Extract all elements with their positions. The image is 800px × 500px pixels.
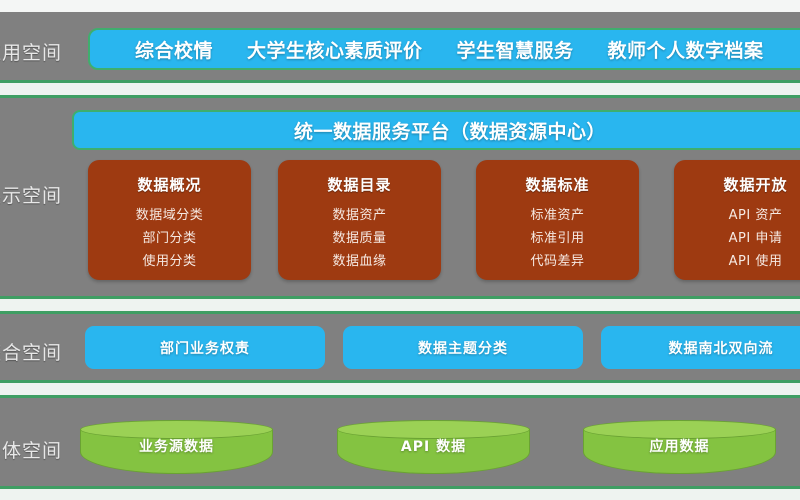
- data-store-application[interactable]: 应用数据: [583, 420, 776, 474]
- app-item-student-service[interactable]: 学生智慧服务: [440, 36, 591, 63]
- band-rule-top: [0, 80, 800, 83]
- data-card-open[interactable]: 数据开放 API 资产 API 申请 API 使用: [674, 160, 800, 280]
- data-store-business-source[interactable]: 业务源数据: [80, 420, 273, 474]
- presentation-layer-label: 展示空间: [0, 181, 68, 208]
- data-store-business-source-label: 业务源数据: [80, 436, 273, 456]
- separator-band-1: [0, 80, 800, 98]
- data-store-api[interactable]: API 数据: [337, 420, 530, 474]
- data-store-api-label: API 数据: [337, 436, 530, 456]
- data-card-open-line-3: API 使用: [729, 250, 783, 273]
- application-bar: 综合校情 大学生核心素质评价 学生智慧服务 教师个人数字档案: [88, 28, 800, 70]
- separator-band-bottom: [0, 486, 800, 500]
- application-layer-label: 应用空间: [0, 38, 68, 65]
- data-card-open-line-1: API 资产: [729, 204, 783, 227]
- data-card-standard-line-2: 标准引用: [530, 227, 584, 250]
- app-item-comprehensive[interactable]: 综合校情: [118, 36, 230, 63]
- data-card-catalog[interactable]: 数据目录 数据资产 数据质量 数据血缘: [278, 160, 441, 280]
- data-card-overview-line-2: 部门分类: [142, 227, 196, 250]
- data-card-standard[interactable]: 数据标准 标准资产 标准引用 代码差异: [476, 160, 639, 280]
- integration-item-bidirectional-flow[interactable]: 数据南北双向流: [601, 326, 800, 369]
- integration-item-department-duty[interactable]: 部门业务权责: [85, 326, 325, 369]
- data-card-overview[interactable]: 数据概况 数据域分类 部门分类 使用分类: [88, 160, 251, 280]
- data-card-overview-line-1: 数据域分类: [136, 204, 204, 227]
- app-item-student-quality[interactable]: 大学生核心素质评价: [230, 36, 440, 63]
- architecture-diagram: 应用空间 综合校情 大学生核心素质评价 学生智慧服务 教师个人数字档案 展示空间…: [0, 0, 800, 500]
- data-card-standard-line-1: 标准资产: [530, 204, 584, 227]
- data-card-catalog-title: 数据目录: [327, 174, 391, 195]
- data-card-catalog-line-1: 数据资产: [332, 204, 386, 227]
- data-store-application-label: 应用数据: [583, 436, 776, 456]
- integration-layer-label: 整合空间: [0, 338, 68, 365]
- data-card-overview-title: 数据概况: [137, 174, 201, 195]
- unified-data-platform-bar[interactable]: 统一数据服务平台（数据资源中心）: [72, 110, 800, 150]
- band-rule-top: [0, 486, 800, 489]
- data-card-standard-line-3: 代码差异: [530, 250, 584, 273]
- band-rule-top: [0, 296, 800, 299]
- data-card-overview-line-3: 使用分类: [142, 250, 196, 273]
- separator-band-2: [0, 296, 800, 314]
- data-card-catalog-line-2: 数据质量: [332, 227, 386, 250]
- separator-band-3: [0, 380, 800, 398]
- data-card-catalog-line-3: 数据血缘: [332, 250, 386, 273]
- data-card-open-title: 数据开放: [723, 174, 787, 195]
- data-card-open-line-2: API 申请: [729, 227, 783, 250]
- integration-item-topic-classification[interactable]: 数据主题分类: [343, 326, 583, 369]
- app-item-teacher-archive[interactable]: 教师个人数字档案: [591, 36, 781, 63]
- entity-layer-label: 实体空间: [0, 436, 68, 463]
- band-rule-top: [0, 380, 800, 383]
- data-card-standard-title: 数据标准: [525, 174, 589, 195]
